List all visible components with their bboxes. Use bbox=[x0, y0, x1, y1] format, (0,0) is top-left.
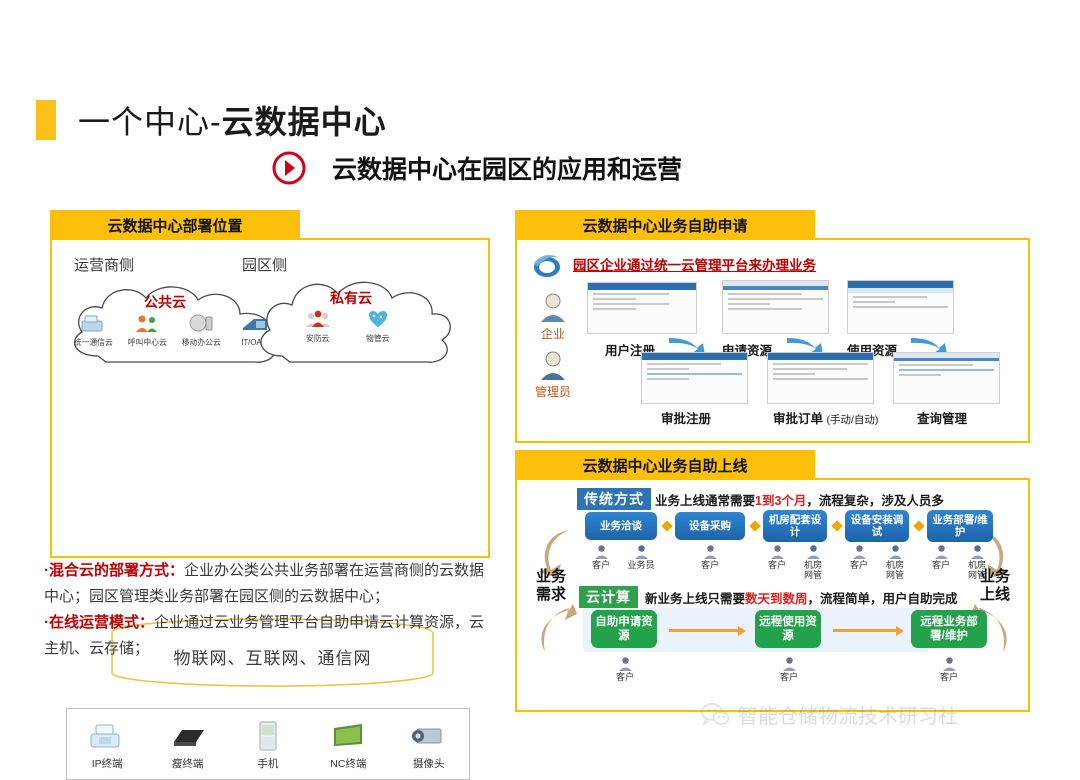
user-icon bbox=[634, 544, 649, 560]
note-hot: 1到3个月 bbox=[755, 494, 806, 508]
screenshot-thumb bbox=[722, 280, 829, 334]
cloud-item: 物管云 bbox=[348, 308, 408, 344]
step-separator-icon bbox=[913, 520, 924, 531]
role-item: 客户 bbox=[605, 656, 645, 682]
role-item: 机房 网管 bbox=[875, 544, 915, 580]
cloud-item-label: 移动办公云 bbox=[181, 336, 220, 347]
role-item: 客户 bbox=[929, 656, 969, 682]
panel-deployment-header: 云数据中心部署位置 bbox=[50, 210, 300, 240]
people-icon bbox=[132, 312, 162, 334]
device-item: 手机 bbox=[232, 718, 304, 771]
cloud-step: 远程业务部署/维护 bbox=[911, 610, 987, 648]
bullet-list: ·混合云的部署方式：企业办公类公共业务部署在运营商侧的云数据中心；园区管理类业务… bbox=[44, 558, 494, 662]
thin-client-icon bbox=[166, 718, 210, 754]
cloud-computing-note: 新业务上线只需要数天到数周，流程简单，用户自助完成 bbox=[645, 588, 958, 607]
chevron-right-circle-icon bbox=[272, 151, 306, 185]
role-item: 机房 网管 bbox=[793, 544, 833, 580]
panel-deployment: 云数据中心部署位置 运营商侧 园区侧 公共云 统一通信云 bbox=[50, 210, 490, 240]
note-after: ，流程复杂，涉及人员多 bbox=[806, 494, 944, 508]
cloud-item: 移动办公云 bbox=[174, 312, 228, 348]
bullet-term: ·混合云的部署方式： bbox=[44, 562, 184, 579]
note-hot: 数天到数周 bbox=[745, 592, 808, 606]
device-label: 摄像头 bbox=[413, 756, 445, 771]
traditional-step: 设备采购 bbox=[675, 512, 745, 540]
title-emphasis: 云数据中心 bbox=[222, 104, 387, 140]
device-label: IP终端 bbox=[92, 756, 123, 771]
user-icon bbox=[594, 544, 609, 560]
cloud-item-label: 呼叫中心云 bbox=[127, 336, 166, 347]
ip-phone-icon bbox=[85, 718, 129, 754]
panel-self-apply-body: 园区企业通过统一云管理平台来办理业务 企业 管理员 bbox=[515, 238, 1030, 443]
screenshot-thumb bbox=[587, 282, 697, 334]
note-before: 业务上线通常需要 bbox=[655, 494, 755, 508]
panel-self-online-header: 云数据中心业务自助上线 bbox=[515, 450, 815, 480]
panel-self-apply-header: 云数据中心业务自助申请 bbox=[515, 210, 815, 240]
security-people-icon bbox=[303, 308, 333, 330]
cycle-arrow-left-bottom-icon bbox=[535, 604, 579, 656]
flow-step-label: 查询管理 bbox=[917, 408, 967, 427]
traditional-step: 业务洽谈 bbox=[585, 512, 657, 540]
device-bar: IP终端 瘦终端 手机 bbox=[66, 708, 470, 780]
user-icon bbox=[806, 544, 821, 560]
user-icon bbox=[703, 544, 718, 560]
label-operator-side: 运营商侧 bbox=[74, 254, 134, 275]
traditional-step: 机房配套设计 bbox=[763, 510, 827, 542]
watermark: 智能仓储物流技术研习社 bbox=[700, 700, 958, 729]
cloud-step: 远程使用资源 bbox=[755, 610, 821, 648]
admin-user-icon bbox=[538, 350, 568, 382]
panel-self-online: 云数据中心业务自助上线 业务 需求 业务 上线 传统方式 业务上线通常需要1到3… bbox=[515, 450, 1030, 480]
enterprise-user-icon bbox=[538, 292, 568, 324]
role-label: 客户 bbox=[616, 672, 634, 682]
role-label: 业务员 bbox=[627, 560, 654, 570]
flow-step-text: 审批订单 bbox=[773, 412, 823, 426]
mobile-phone-icon bbox=[246, 718, 290, 754]
device-label: 手机 bbox=[257, 756, 278, 771]
screenshot-thumb bbox=[893, 352, 1000, 404]
actor-label: 管理员 bbox=[535, 383, 571, 400]
flow-step-label: 审批注册 bbox=[661, 408, 711, 427]
title-prefix: 一个中心- bbox=[78, 104, 222, 140]
cloud-computing-badge: 云计算 bbox=[579, 586, 638, 608]
traditional-badge: 传统方式 bbox=[577, 488, 651, 510]
watermark-text: 智能仓储物流技术研习社 bbox=[738, 700, 958, 729]
device-item: 瘦终端 bbox=[152, 718, 224, 771]
screenshot-thumb bbox=[767, 352, 874, 404]
role-item: 客户 bbox=[690, 544, 730, 570]
role-label: 客户 bbox=[592, 560, 610, 570]
panel-self-online-body: 业务 需求 业务 上线 传统方式 业务上线通常需要1到3个月，流程复杂，涉及人员… bbox=[515, 478, 1030, 712]
internet-explorer-icon bbox=[531, 250, 563, 280]
page-title: 一个中心-云数据中心 bbox=[36, 97, 387, 143]
role-item: 业务员 bbox=[621, 544, 661, 570]
wechat-icon bbox=[700, 702, 730, 728]
screenshot-thumb bbox=[641, 352, 748, 404]
actor-label: 企业 bbox=[541, 325, 565, 342]
step-separator-icon bbox=[749, 520, 760, 531]
role-label: 客户 bbox=[932, 560, 950, 570]
title-text: 一个中心-云数据中心 bbox=[78, 97, 387, 143]
device-item: IP终端 bbox=[71, 718, 143, 771]
role-item: 客户 bbox=[581, 544, 621, 570]
user-icon bbox=[942, 656, 957, 672]
role-label: 客户 bbox=[940, 672, 958, 682]
role-label: 客户 bbox=[701, 560, 719, 570]
camera-icon bbox=[407, 718, 451, 754]
step-separator-icon bbox=[661, 520, 672, 531]
screenshot-thumb bbox=[847, 280, 954, 334]
traditional-step: 业务部署/维护 bbox=[927, 510, 993, 542]
role-item: 客户 bbox=[769, 656, 809, 682]
title-marker bbox=[36, 100, 56, 140]
private-cloud-items: 安防云 物管云 bbox=[288, 308, 408, 344]
cloud-item: 呼叫中心云 bbox=[120, 312, 174, 348]
role-label: 客户 bbox=[850, 560, 868, 570]
cloud-item-label: 物管云 bbox=[366, 332, 389, 343]
flow-arrow-icon bbox=[669, 629, 739, 632]
role-label: 客户 bbox=[768, 560, 786, 570]
self-apply-headline: 园区企业通过统一云管理平台来办理业务 bbox=[573, 254, 816, 274]
user-icon bbox=[770, 544, 785, 560]
device-item: NC终端 bbox=[312, 718, 384, 771]
bullet-item: ·混合云的部署方式：企业办公类公共业务部署在运营商侧的云数据中心；园区管理类业务… bbox=[44, 558, 494, 610]
cycle-label-left: 业务 需求 bbox=[525, 568, 577, 604]
panel-self-apply: 云数据中心业务自助申请 园区企业通过统一云管理平台来办理业务 企业 bbox=[515, 210, 1030, 240]
device-label: 瘦终端 bbox=[172, 756, 204, 771]
subtitle-text: 云数据中心在园区的应用和运营 bbox=[332, 150, 682, 186]
role-item: 机房 网管 bbox=[957, 544, 997, 580]
flow-step-note: (手动/自动) bbox=[827, 414, 879, 426]
nc-terminal-icon bbox=[326, 718, 370, 754]
user-icon bbox=[618, 656, 633, 672]
role-item: 客户 bbox=[921, 544, 961, 570]
private-cloud-label: 私有云 bbox=[330, 288, 372, 308]
device-label: NC终端 bbox=[330, 756, 366, 771]
bullet-item: ·在线运营模式：企业通过云业务管理平台自助申请云计算资源，云主机、云存储； bbox=[44, 610, 494, 662]
role-label: 机房 网管 bbox=[804, 560, 822, 580]
flow-step-label: 审批订单 (手动/自动) bbox=[773, 408, 878, 427]
role-label: 机房 网管 bbox=[968, 560, 986, 580]
actor-admin: 管理员 bbox=[527, 350, 579, 400]
slide-root: 一个中心-云数据中心 云数据中心在园区的应用和运营 云数据中心部署位置 运营商侧… bbox=[0, 0, 1080, 764]
ip-phone-icon bbox=[78, 312, 108, 334]
user-icon bbox=[782, 656, 797, 672]
step-separator-icon bbox=[831, 520, 842, 531]
cloud-item-label: 安防云 bbox=[306, 332, 329, 343]
role-label: 机房 网管 bbox=[886, 560, 904, 580]
device-item: 摄像头 bbox=[393, 718, 465, 771]
traditional-note: 业务上线通常需要1到3个月，流程复杂，涉及人员多 bbox=[655, 490, 944, 509]
network-heart-icon bbox=[363, 308, 393, 330]
traditional-step: 设备安装调试 bbox=[845, 510, 909, 542]
public-cloud-label: 公共云 bbox=[144, 292, 186, 312]
user-icon bbox=[852, 544, 867, 560]
role-item: 客户 bbox=[839, 544, 879, 570]
panel-deployment-body: 运营商侧 园区侧 公共云 统一通信云 bbox=[50, 238, 490, 558]
cloud-item-label: 统一通信云 bbox=[73, 336, 112, 347]
cloud-item: 统一通信云 bbox=[66, 312, 120, 348]
note-after: ，流程简单，用户自助完成 bbox=[808, 592, 958, 606]
mobile-office-icon bbox=[186, 312, 216, 334]
user-icon bbox=[888, 544, 903, 560]
cloud-item: 安防云 bbox=[288, 308, 348, 344]
bullet-term: ·在线运营模式： bbox=[44, 614, 154, 631]
user-icon bbox=[934, 544, 949, 560]
role-item: 客户 bbox=[757, 544, 797, 570]
subtitle: 云数据中心在园区的应用和运营 bbox=[272, 150, 682, 186]
cloud-step: 自助申请资源 bbox=[591, 610, 657, 648]
flow-arrow-icon bbox=[833, 629, 897, 632]
user-icon bbox=[970, 544, 985, 560]
actor-enterprise: 企业 bbox=[527, 292, 579, 342]
role-label: 客户 bbox=[780, 672, 798, 682]
note-before: 新业务上线只需要 bbox=[645, 592, 745, 606]
